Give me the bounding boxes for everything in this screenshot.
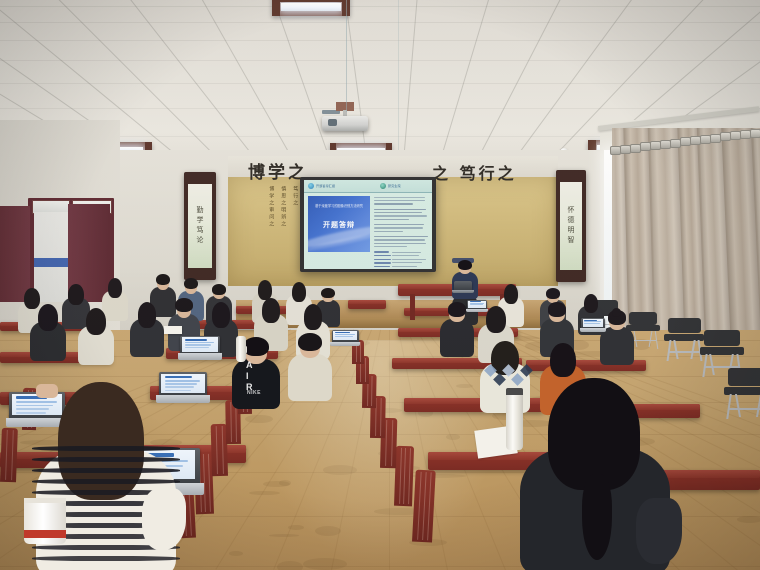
university-logo-icon <box>380 183 386 189</box>
arm <box>142 488 186 550</box>
black-jacket-student <box>520 382 670 570</box>
chair-leg <box>648 331 652 347</box>
sweater-stripe <box>32 468 180 473</box>
cream-jacket-student <box>288 330 332 400</box>
screen-header <box>165 376 192 379</box>
slide-header-left-text: 开题答辩汇报 <box>316 184 335 188</box>
screen-row <box>335 336 353 337</box>
ceiling-wire <box>398 0 399 160</box>
folding-chair-4[interactable] <box>724 368 760 421</box>
chair-leg <box>756 394 760 417</box>
chair-crossbar <box>729 408 760 410</box>
chair-crossbar <box>668 351 700 352</box>
hair <box>486 306 506 333</box>
hair <box>212 284 226 295</box>
air-lettering: A I R <box>246 360 254 393</box>
sweater-stripe <box>32 457 180 462</box>
hair <box>504 284 518 304</box>
laptop-row3-left[interactable] <box>178 336 222 360</box>
torso <box>232 359 280 409</box>
sweater-stripe <box>32 556 180 561</box>
left-wall-plaque: 勤学笃论 <box>184 172 216 280</box>
hair <box>292 282 306 302</box>
bench-back-far-left[interactable] <box>0 428 18 483</box>
torso <box>288 354 332 402</box>
screen-row <box>470 304 483 305</box>
student-mid-6 <box>30 302 66 360</box>
cup-base <box>24 498 66 503</box>
hair <box>38 304 58 331</box>
torso <box>600 327 634 365</box>
hair <box>321 288 334 298</box>
screen-row <box>335 334 355 335</box>
ponytail <box>582 474 612 560</box>
slide-title-card: 基于深度学习的图像识别方法研究 开题答辩 <box>308 196 370 252</box>
laptop-lid <box>467 300 487 309</box>
chair-leg <box>710 354 716 375</box>
slide-header-right-text: 研究生院 <box>388 184 401 188</box>
screen-row <box>185 347 209 348</box>
student-mid-7 <box>78 306 114 364</box>
laptop-screen <box>333 331 357 341</box>
projection-screen[interactable]: 开题答辩汇报 研究生院 基于深度学习的图像识别方法研究 开题答辩 <box>304 180 432 269</box>
mural-column-3: 笃行之 <box>292 186 298 220</box>
arm <box>636 498 682 564</box>
institution-logo-icon <box>308 183 314 189</box>
chair-back <box>704 330 740 346</box>
hair <box>156 274 170 285</box>
hair <box>546 288 560 299</box>
projector-wire <box>346 0 347 112</box>
cup-band <box>24 530 66 538</box>
laptop-base <box>466 309 488 312</box>
screen-header <box>185 339 207 341</box>
laptop-right-far[interactable] <box>466 300 488 312</box>
hair <box>298 333 322 351</box>
sweater-stripe <box>32 446 180 451</box>
lamp-divider <box>272 0 350 2</box>
screen-row <box>185 344 211 345</box>
hair <box>548 302 567 317</box>
mural-column-2: 慎思之明辨之 <box>280 186 286 238</box>
projector-lens <box>328 119 337 126</box>
chair-leg <box>673 340 678 359</box>
paper-cup[interactable] <box>24 498 66 544</box>
hair <box>108 278 122 298</box>
mural-headline-left: 博学之 <box>248 158 308 183</box>
laptop-lid <box>581 318 604 328</box>
thermos-cap <box>506 388 523 395</box>
student-mid-1 <box>130 300 164 356</box>
laptop-base <box>178 353 222 359</box>
ceiling-light-6 <box>272 0 350 16</box>
hair <box>86 308 106 335</box>
light-tube <box>281 3 340 11</box>
screen-header <box>584 320 597 321</box>
laptop-base <box>580 328 606 332</box>
screen-row <box>165 380 201 382</box>
laptop-lid <box>180 336 220 353</box>
chair-back <box>728 368 760 386</box>
chair-back <box>668 318 701 333</box>
hair <box>458 260 472 270</box>
right-wall-plaque: 怀德明智 <box>556 170 586 282</box>
laptop-right-back[interactable] <box>580 318 606 332</box>
chair-leg <box>726 394 732 419</box>
hair <box>138 302 157 328</box>
slide-body-text <box>374 196 429 264</box>
projector <box>322 110 368 136</box>
curtains[interactable] <box>612 128 760 343</box>
slide-title: 开题答辩 <box>308 220 370 230</box>
laptop-screen <box>182 337 217 351</box>
curtain-grommet[interactable] <box>750 129 760 138</box>
desk-top <box>348 300 386 304</box>
laptop-base <box>330 342 360 346</box>
plaque-text-right: 怀德明智 <box>566 188 576 264</box>
side-lectern[interactable] <box>348 300 386 309</box>
hair <box>304 304 323 330</box>
laptop-lid <box>454 281 472 290</box>
hair <box>262 298 281 323</box>
hair <box>68 284 83 305</box>
hair <box>550 343 575 377</box>
chair-leg <box>735 394 741 417</box>
paper-sheet <box>164 326 182 334</box>
mural-headline-right: 之 笃行之 <box>432 160 517 184</box>
folding-chair-1[interactable] <box>664 318 704 362</box>
laptop-screen <box>583 319 604 327</box>
lamp-edge <box>272 0 280 16</box>
slide-subtitle: 基于深度学习的图像识别方法研究 <box>308 203 370 208</box>
hair <box>448 302 467 317</box>
chair-leg <box>633 331 637 347</box>
hand <box>36 384 58 398</box>
screen-header <box>335 332 350 333</box>
water-bottle[interactable] <box>236 336 246 362</box>
hair <box>184 278 198 289</box>
student-bun <box>600 308 634 364</box>
presenter-laptop[interactable] <box>452 281 474 294</box>
hair <box>212 302 231 328</box>
laptop-row4-center[interactable] <box>330 330 360 346</box>
presenter-desk-leg <box>410 294 415 320</box>
hair <box>584 294 598 313</box>
bench-back-front-right[interactable] <box>412 470 436 543</box>
sweater-stripe <box>32 479 180 484</box>
mural-column-1: 博学之审问之 <box>268 186 274 238</box>
hair <box>175 298 193 312</box>
chair-leg <box>690 340 695 359</box>
nike-brand-text: NIKE <box>247 390 261 396</box>
laptop-base <box>452 290 474 293</box>
corridor-wainscot <box>34 258 68 267</box>
screen-row <box>584 323 600 324</box>
plaque-text-left: 勤学笃论 <box>195 190 205 262</box>
classroom-photo: 博学之 之 笃行之 博学之审问之 慎思之明辨之 笃行之 勤学笃论 怀德明智 开题… <box>0 0 760 570</box>
bench-back-right-b[interactable] <box>394 446 414 507</box>
laptop-screen <box>468 301 486 308</box>
hair-bun <box>612 308 621 317</box>
laptop-lid <box>332 330 359 342</box>
torso <box>440 319 474 357</box>
screen-row <box>185 342 214 343</box>
